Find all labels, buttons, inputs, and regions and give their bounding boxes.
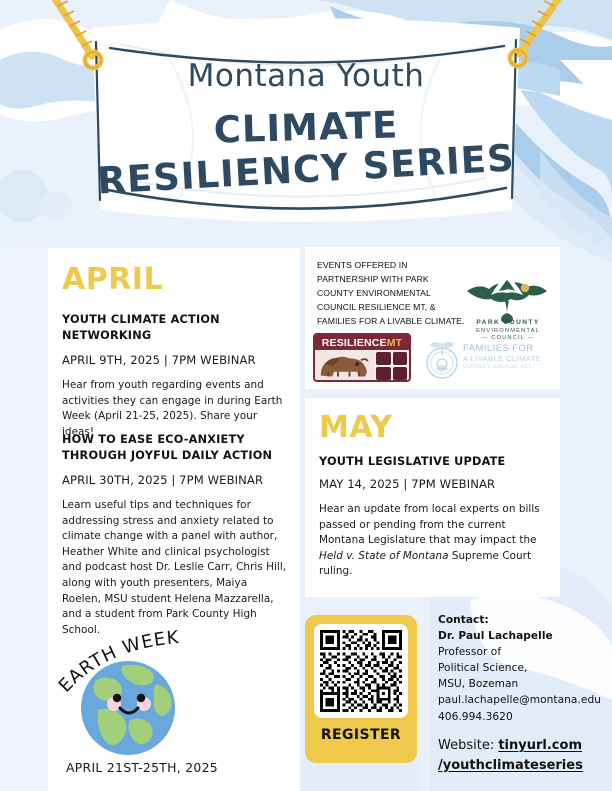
register-label[interactable]: REGISTER xyxy=(305,727,417,743)
april-event2-title-line1: HOW TO EASE ECO-ANXIETY xyxy=(62,432,288,448)
qr-code-icon[interactable] xyxy=(320,630,402,712)
april-heading: APRIL xyxy=(62,262,163,297)
contact-line2: Political Science, xyxy=(438,660,612,676)
header-banner: Montana Youth CLIMATE RESILIENCY SERIES xyxy=(0,0,612,240)
earth-week-graphic: EARTH WEEK APRIL 21ST-25TH, 2025 xyxy=(58,630,278,790)
families-line3: CONNECT. ENGAGE. ACT. xyxy=(463,364,555,371)
contact-block: Contact: Dr. Paul Lachapelle Professor o… xyxy=(438,612,612,725)
poster-root: Montana Youth CLIMATE RESILIENCY SERIES … xyxy=(0,0,612,791)
tile-truck-icon xyxy=(393,352,407,365)
website-url-part2[interactable]: /youthclimateseries xyxy=(438,758,583,773)
earth-globe-icon xyxy=(78,658,178,758)
tile-sun-icon xyxy=(376,367,390,380)
families-line2: A LIVABLE CLIMATE xyxy=(463,354,555,364)
may-event-date: MAY 14, 2025 | 7PM WEBINAR xyxy=(319,477,547,491)
contact-phone[interactable]: 406.994.3620 xyxy=(438,709,612,725)
resilience-mt-logo: RESILIENCEMT xyxy=(313,333,411,382)
april-event2-date: APRIL 30TH, 2025 | 7PM WEBINAR xyxy=(62,473,288,487)
partners-card: EVENTS OFFERED IN PARTNERSHIP WITH PARK … xyxy=(305,247,560,389)
contact-name: Dr. Paul Lachapelle xyxy=(438,628,612,644)
may-event-title: YOUTH LEGISLATIVE UPDATE xyxy=(319,454,547,470)
contact-heading: Contact: xyxy=(438,612,612,628)
website-line2: /youthclimateseries xyxy=(438,756,612,776)
earth-week-date: APRIL 21ST-25TH, 2025 xyxy=(66,760,276,775)
tile-building-icon xyxy=(376,352,390,365)
april-event2-title-line2: THROUGH JOYFUL DAILY ACTION xyxy=(62,448,288,464)
april-event1-title-line2: NETWORKING xyxy=(62,328,288,344)
banner-cloth-and-ropes xyxy=(0,0,612,240)
website-url-part1[interactable]: tinyurl.com xyxy=(498,738,582,753)
website-block: Website: tinyurl.com /youthclimateseries xyxy=(438,736,612,775)
resilience-mt-wordmark: RESILIENCEMT xyxy=(315,335,409,350)
resilience-mt-icon-tiles xyxy=(374,350,409,382)
may-body-case-name: Held v. State of Montana xyxy=(319,550,449,562)
pcec-line1: PARK COUNTY xyxy=(463,319,553,328)
bison-icon xyxy=(315,350,374,382)
may-card: MAY YOUTH LEGISLATIVE UPDATE MAY 14, 202… xyxy=(305,398,560,597)
resilience-mt-word2: MT xyxy=(387,337,403,349)
pcec-line2: ENVIRONMENTAL xyxy=(463,328,553,336)
families-line1: FAMILIES FOR xyxy=(463,342,555,354)
may-event-body: Hear an update from local experts on bil… xyxy=(319,502,547,580)
contact-email[interactable]: paul.lachapelle@montana.edu xyxy=(438,692,612,708)
april-event1-title-line1: YOUTH CLIMATE ACTION xyxy=(62,312,288,328)
families-logo-text: FAMILIES FOR A LIVABLE CLIMATE CONNECT. … xyxy=(463,342,555,371)
may-heading: MAY xyxy=(319,410,392,445)
register-button[interactable]: REGISTER xyxy=(305,615,417,763)
website-prefix: Website: xyxy=(438,738,498,753)
tile-water-icon xyxy=(393,367,407,380)
april-event1-date: APRIL 9TH, 2025 | 7PM WEBINAR xyxy=(62,353,288,367)
contact-line3: MSU, Bozeman xyxy=(438,676,612,692)
may-body-pre: Hear an update from local experts on bil… xyxy=(319,503,540,546)
april-event2-body: Learn useful tips and techniques for add… xyxy=(62,498,288,638)
partners-text: EVENTS OFFERED IN PARTNERSHIP WITH PARK … xyxy=(317,259,467,329)
qr-code-container[interactable] xyxy=(314,624,408,718)
contact-line1: Professor of xyxy=(438,644,612,660)
website-line1: Website: tinyurl.com xyxy=(438,736,612,756)
resilience-mt-word1: RESILIENCE xyxy=(322,337,387,349)
